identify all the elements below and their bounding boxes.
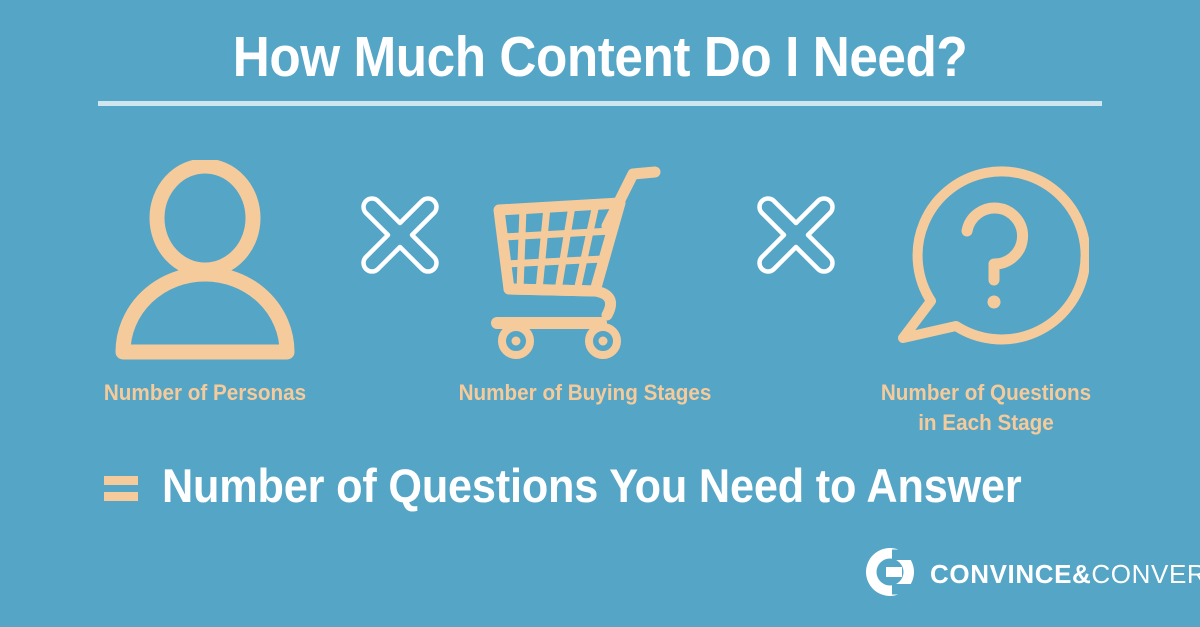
convince-and-convert-c-mark-icon <box>866 548 914 601</box>
page-title: How Much Content Do I Need? <box>60 26 1140 88</box>
multiply-x-icon <box>748 187 844 283</box>
brand-logo: CONVINCE&CONVERT <box>866 548 1200 600</box>
infographic-canvas: How Much Content Do I Need? <box>0 0 1200 627</box>
person-icon <box>105 160 305 360</box>
caption-questions-line1: Number of Questions <box>845 378 1127 408</box>
multiply-x-icon <box>352 187 448 283</box>
caption-questions-each-stage: Number of Questions in Each Stage <box>845 378 1127 438</box>
equals-sign-icon <box>104 473 138 503</box>
caption-questions-line2: in Each Stage <box>845 408 1127 438</box>
brand-name-light: CONVERT <box>1091 559 1200 589</box>
formula-icon-row <box>0 160 1200 360</box>
question-speech-bubble-icon <box>893 160 1089 360</box>
brand-logo-text: CONVINCE&CONVERT <box>930 560 1200 588</box>
caption-buying-stages: Number of Buying Stages <box>444 378 726 408</box>
title-divider <box>98 101 1102 106</box>
brand-name-bold: CONVINCE& <box>930 559 1091 589</box>
shopping-cart-icon <box>487 160 662 360</box>
result-text: Number of Questions You Need to Answer <box>162 460 1022 512</box>
formula-result-row: Number of Questions You Need to Answer <box>0 455 1200 517</box>
caption-personas: Number of Personas <box>64 378 346 408</box>
